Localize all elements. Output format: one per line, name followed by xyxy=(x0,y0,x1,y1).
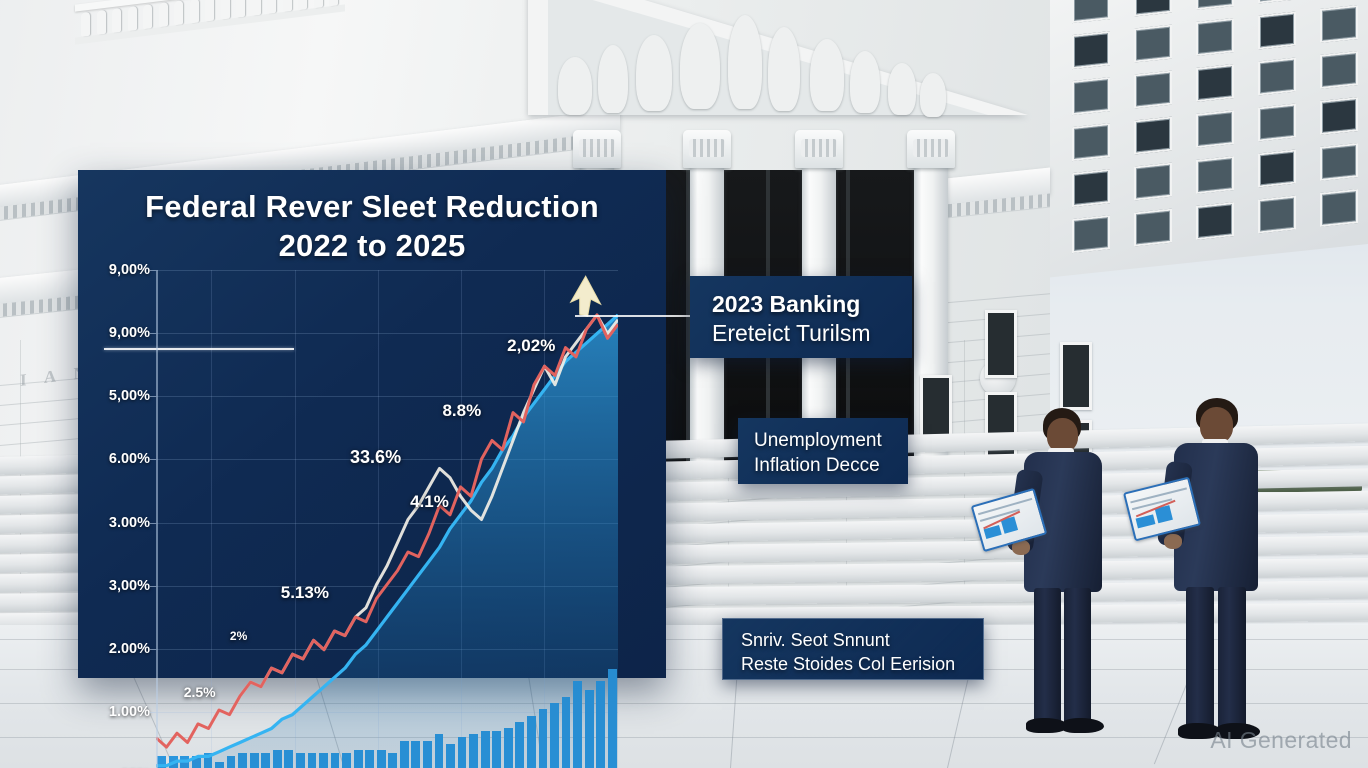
summary-callout-line2: Reste Stoides Col Eerision xyxy=(741,652,983,676)
pediment-sculpture-figure xyxy=(598,45,628,113)
banking-callout-line1: 2023 Banking xyxy=(712,290,912,319)
callout-leader-line-1 xyxy=(104,348,294,350)
tower-window xyxy=(1134,0,1172,17)
y-axis-line xyxy=(156,270,158,768)
y-axis-tick-label: 2.00% xyxy=(109,641,150,657)
summary-callout-line1: Snriv. Seot Snnunt xyxy=(741,628,983,652)
tower-window xyxy=(1134,117,1172,155)
pediment-sculpture-figure xyxy=(810,39,844,111)
pediment-sculpture-figure xyxy=(558,57,592,115)
panel-title: Federal Rever Sleet Reduction 2022 to 20… xyxy=(78,188,666,266)
data-label: 4.1% xyxy=(410,492,449,512)
tower-window xyxy=(1134,163,1172,201)
tower-window xyxy=(1134,209,1172,247)
leg-right xyxy=(1218,587,1246,729)
pediment-sculpture-figure xyxy=(850,51,880,113)
baluster xyxy=(314,0,323,8)
panel-title-line1: Federal Rever Sleet Reduction xyxy=(78,188,666,227)
tower-window xyxy=(1258,150,1296,188)
tower-window xyxy=(1196,64,1234,102)
pediment-sculpture-figure xyxy=(768,27,800,111)
baluster xyxy=(298,0,307,10)
panel-title-line2: 2022 to 2025 xyxy=(78,227,666,266)
y-axis-tick-label: 5,00% xyxy=(109,388,150,404)
roof-balustrade xyxy=(75,0,345,45)
y-axis-tick-label: 1.00% xyxy=(109,704,150,720)
hand xyxy=(1164,534,1182,549)
baluster xyxy=(221,0,230,20)
tower-window xyxy=(1196,18,1234,56)
y-axis-tick-label: 6.00% xyxy=(109,451,150,467)
y-axis-tick-label: 9,00% xyxy=(109,262,150,278)
analyst-left xyxy=(1000,408,1120,738)
tower-window xyxy=(1072,215,1110,253)
baluster xyxy=(81,12,90,37)
tower-window xyxy=(1072,169,1110,207)
head xyxy=(1200,407,1233,443)
baluster xyxy=(252,0,261,16)
tower-window xyxy=(1258,12,1296,50)
pediment-sculpture-figure xyxy=(636,35,672,111)
data-label: 33.6% xyxy=(350,447,401,468)
baluster xyxy=(190,0,199,24)
tower-window xyxy=(1320,51,1358,89)
unemployment-callout-line1: Unemployment xyxy=(754,429,908,454)
tower-window xyxy=(1320,97,1358,135)
leg-right xyxy=(1064,588,1091,724)
tower-window xyxy=(1072,77,1110,115)
shoe-right xyxy=(1062,718,1104,733)
baluster xyxy=(143,4,152,29)
screenshot-root: I A N E D H E L E C H I O N E P L U U E … xyxy=(0,0,1368,768)
chart-panel: Federal Rever Sleet Reduction 2022 to 20… xyxy=(78,170,666,678)
baluster xyxy=(205,0,214,22)
summary-callout[interactable]: Snriv. Seot Snnunt Reste Stoides Col Eer… xyxy=(722,618,984,680)
ai-generated-watermark: AI Generated xyxy=(1210,727,1352,754)
data-label: 8.8% xyxy=(442,401,481,421)
data-label: 2.5% xyxy=(184,684,216,700)
plot-area: 9,00%9,00%5,00%6.00%3.00%3,00%2.00%1.00%… xyxy=(156,270,618,768)
facade-window xyxy=(1060,342,1092,410)
baluster xyxy=(236,0,245,18)
pediment-sculpture-figure xyxy=(920,73,946,117)
unemployment-callout[interactable]: Unemployment Inflation Decce xyxy=(738,418,908,484)
baluster xyxy=(174,0,183,25)
y-axis-tick-label: 9,00% xyxy=(109,325,150,341)
facade-window xyxy=(985,310,1017,378)
tower-window xyxy=(1134,71,1172,109)
baluster xyxy=(97,10,106,35)
unemployment-callout-line2: Inflation Decce xyxy=(754,454,908,479)
tower-window xyxy=(1320,5,1358,43)
callout-leader-line-2 xyxy=(575,315,701,317)
data-label: 5.13% xyxy=(281,583,329,603)
baluster xyxy=(283,0,292,12)
pediment-sculpture-figure xyxy=(680,23,720,109)
tower-window xyxy=(1134,25,1172,63)
baluster xyxy=(267,0,276,14)
tower-window xyxy=(1072,0,1110,23)
analyst-right xyxy=(1150,398,1280,743)
baluster xyxy=(128,6,137,31)
leg-left xyxy=(1186,587,1214,729)
banking-callout[interactable]: 2023 Banking Ereteict Turilsm xyxy=(690,276,912,358)
tower-window xyxy=(1072,31,1110,69)
tower-window xyxy=(1196,0,1234,10)
tower-window xyxy=(1196,110,1234,148)
tower-window xyxy=(1320,143,1358,181)
pediment-sculpture-figure xyxy=(888,63,916,115)
data-label: 2% xyxy=(230,629,247,643)
data-label: 2,02% xyxy=(507,336,555,356)
tower-window xyxy=(1196,202,1234,240)
tower-window xyxy=(1320,189,1358,227)
tower-window xyxy=(1258,196,1296,234)
leg-left xyxy=(1034,588,1061,724)
tower-window xyxy=(1072,123,1110,161)
baluster xyxy=(112,8,121,33)
baluster xyxy=(159,2,168,27)
head xyxy=(1047,418,1078,452)
tower-window xyxy=(1196,156,1234,194)
y-axis-tick-label: 3.00% xyxy=(109,515,150,531)
y-axis-tick-label: 3,00% xyxy=(109,578,150,594)
tower-window xyxy=(1258,104,1296,142)
tower-window xyxy=(1258,58,1296,96)
banking-callout-line2: Ereteict Turilsm xyxy=(712,319,912,348)
pediment-sculpture-figure xyxy=(728,15,762,109)
tower-window xyxy=(1258,0,1296,4)
